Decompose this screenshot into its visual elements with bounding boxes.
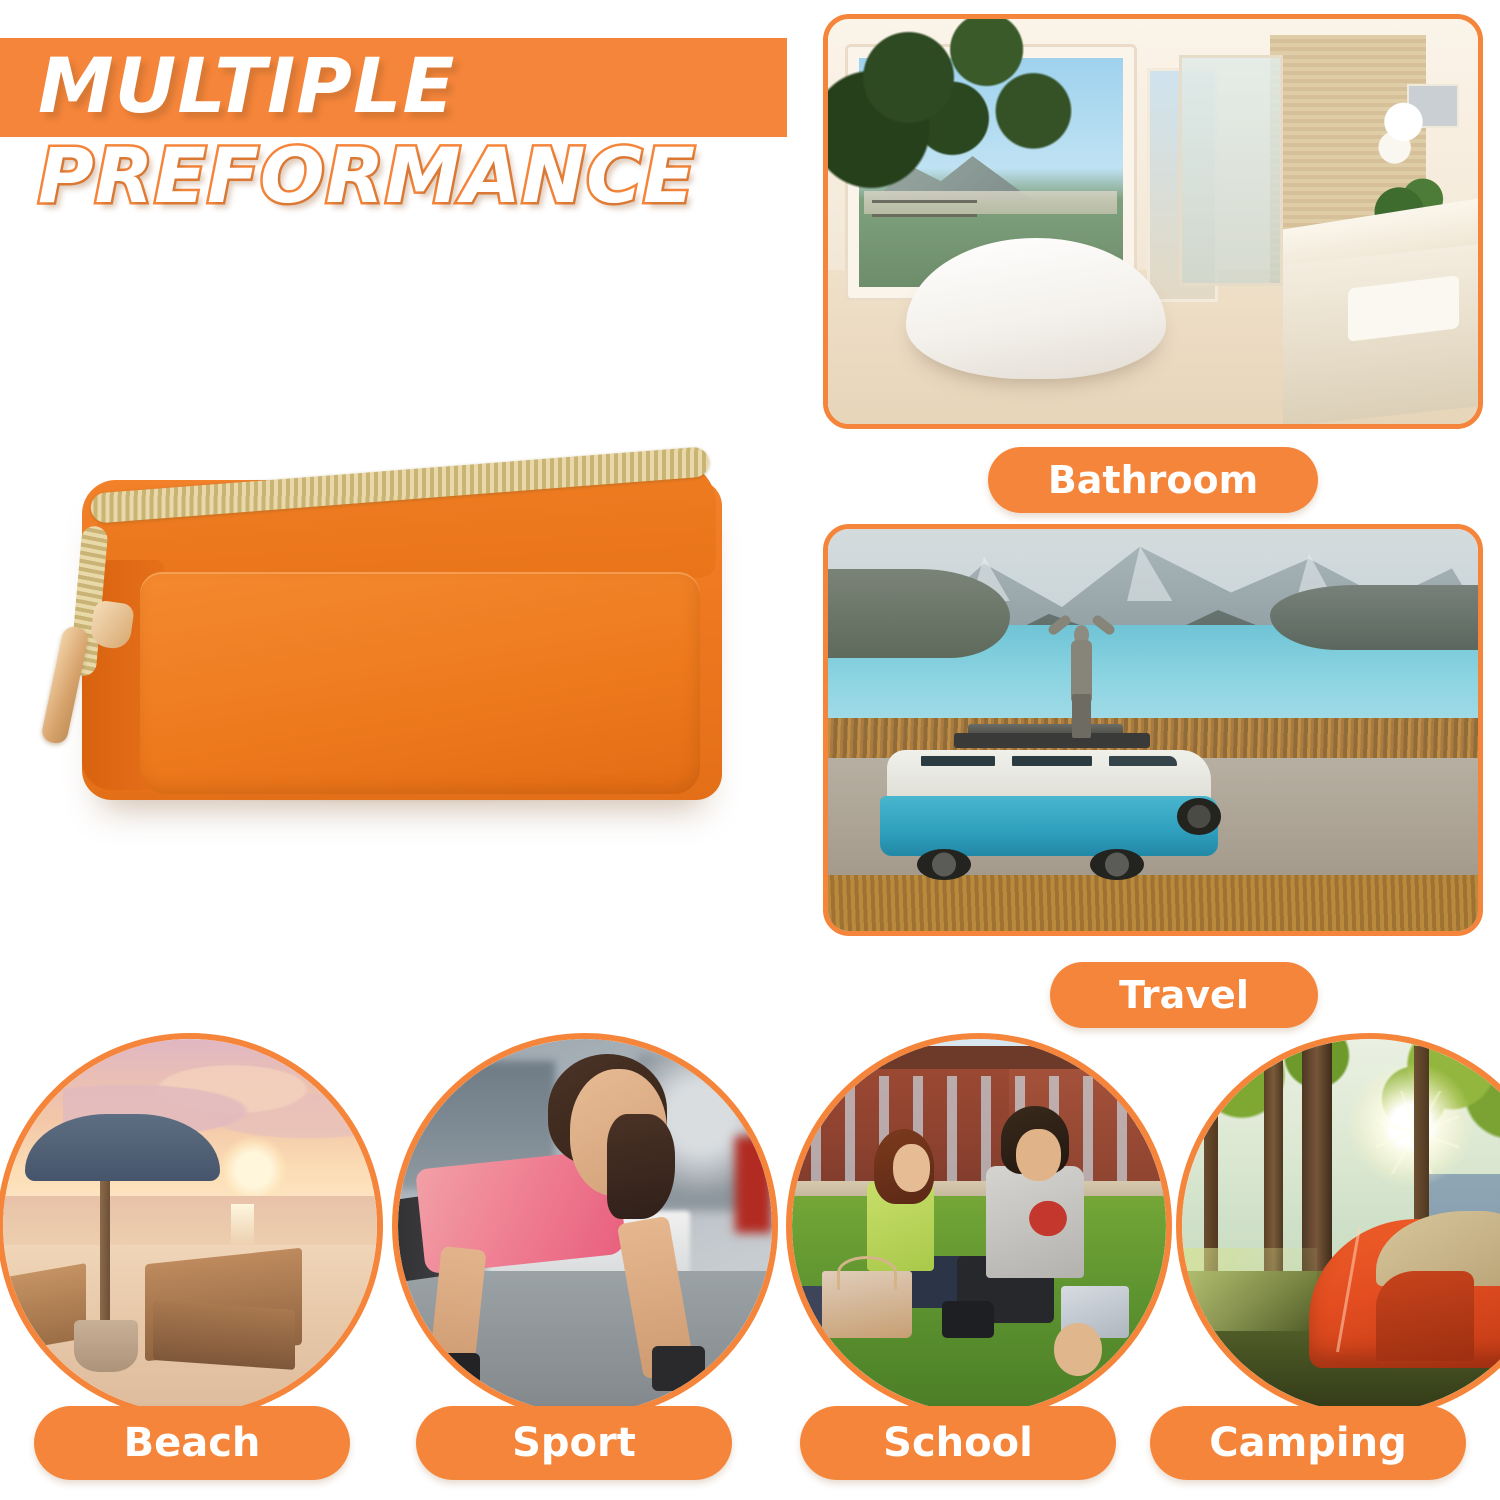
pouch-front-panel [140,572,700,794]
travel-left-headland [828,569,1010,657]
van-front-wheel [1090,849,1144,880]
athlete-ponytail [607,1114,674,1219]
label-school: School [883,1420,1033,1466]
label-beach: Beach [124,1420,261,1466]
label-pill-beach: Beach [34,1406,350,1480]
student-boy-face [1016,1129,1061,1181]
travel-person-on-roof [1043,609,1121,738]
van-window-front [1107,754,1178,768]
window-railing-2 [872,214,978,217]
school-windows [792,1076,1136,1188]
van-window-rear [919,754,997,768]
school-scene [792,1039,1166,1413]
student-boy-shoe [942,1301,994,1338]
label-pill-school: School [800,1406,1116,1480]
label-bathroom: Bathroom [1048,458,1258,502]
orchid-flowers [1374,100,1433,173]
travel-right-headland [1270,585,1478,649]
label-pill-camping: Camping [1150,1406,1466,1480]
photo-circle-sport [392,1033,778,1419]
athlete-left-glove [428,1353,480,1398]
camping-scene [1182,1039,1500,1413]
label-sport: Sport [512,1420,636,1466]
beach-lounge-chair-right-seat [153,1300,295,1370]
student-third-knee [1054,1323,1103,1375]
tent-door [1376,1271,1473,1361]
label-travel: Travel [1119,973,1249,1017]
person-right-arm [1090,613,1116,636]
school-roofline [792,1046,1136,1068]
gym-red-accent [735,1136,772,1233]
label-camping: Camping [1209,1420,1406,1466]
bathroom-scene [828,19,1478,424]
travel-scene [828,529,1478,931]
van-window-middle [1010,754,1094,768]
tote-bag-handle [837,1256,897,1290]
window-tree-foliage [828,19,1127,189]
label-pill-travel: Travel [1050,962,1318,1028]
hoodie-graphic [1024,1196,1073,1241]
travel-camper-van [880,750,1218,871]
beach-sun-reflection [231,1204,253,1249]
beach-umbrella-base [74,1320,138,1372]
van-upper-body [887,750,1211,801]
shower-glass-enclosure [1179,55,1283,286]
van-lower-body [880,796,1218,856]
student-girl-face [893,1144,930,1193]
photo-circle-school [786,1033,1172,1419]
title-line-2: PREFORMANCE [38,138,848,214]
beach-lounge-chair-left [3,1263,85,1354]
beach-umbrella-pole [100,1162,110,1334]
person-legs [1072,694,1091,738]
photo-circle-beach [0,1033,383,1419]
title-line-1: MULTIPLE [38,48,848,124]
product-image-pencil-case [30,440,770,840]
athlete-right-glove [652,1346,704,1391]
photo-bathroom [823,14,1483,429]
van-spare-tire [1177,798,1221,834]
beach-setting-sun [220,1136,287,1203]
beach-sea [3,1196,377,1248]
sport-scene [398,1039,772,1413]
person-torso [1071,640,1093,702]
window-railing-1 [872,200,978,203]
person-left-arm [1047,613,1073,636]
camping-sunlit-grass [1182,1248,1317,1330]
label-pill-bathroom: Bathroom [988,447,1318,513]
infographic-page: MULTIPLE PREFORMANCE [0,0,1500,1500]
travel-foreground-grass [828,875,1478,931]
photo-circle-camping [1176,1033,1500,1419]
page-title: MULTIPLE PREFORMANCE [38,48,848,214]
label-pill-sport: Sport [416,1406,732,1480]
beach-scene [3,1039,377,1413]
photo-travel [823,524,1483,936]
